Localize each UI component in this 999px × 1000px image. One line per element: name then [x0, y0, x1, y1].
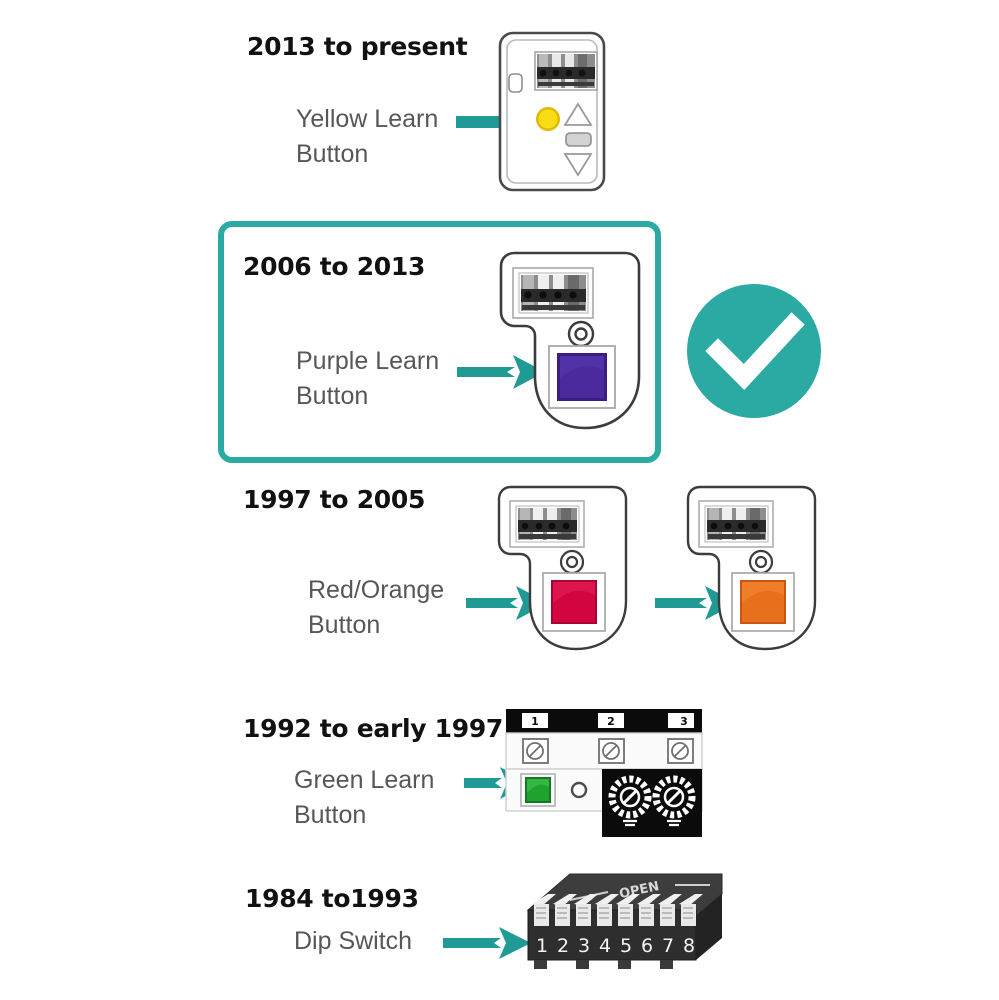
section-heading-2013: 2013 to present: [247, 32, 467, 61]
dip-number-7: 7: [662, 935, 674, 957]
section-heading-1997: 1997 to 2005: [243, 485, 425, 514]
section-heading-2006: 2006 to 2013: [243, 252, 425, 281]
dip-number-1: 1: [536, 935, 548, 957]
section-label-1984-line1: Dip Switch: [294, 925, 412, 958]
diagram-canvas: 2013 to present Yellow Learn Button: [0, 0, 999, 1000]
section-label-1997-line2: Button: [308, 609, 380, 642]
terminal-block: [535, 52, 597, 90]
dip-number-4: 4: [599, 935, 611, 957]
dip-number-6: 6: [641, 935, 653, 957]
terminal-panel-device: 1 2 3: [506, 709, 702, 837]
terminal-block: [699, 501, 773, 547]
dip-switch-device: OPEN: [510, 864, 730, 982]
opener-housing-purple: [483, 248, 651, 446]
terminal-block: [513, 268, 593, 318]
wall-console-device: [497, 30, 607, 193]
section-heading-1984: 1984 to1993: [245, 884, 419, 913]
dial-panel: [602, 769, 702, 837]
section-label-1992-line1: Green Learn: [294, 764, 434, 797]
terminal-number-3: 3: [680, 715, 688, 728]
terminal-number-2: 2: [607, 715, 615, 728]
terminal-block: [510, 501, 584, 547]
section-label-2006-line1: Purple Learn: [296, 345, 439, 378]
dip-number-5: 5: [620, 935, 632, 957]
section-label-2006-line2: Button: [296, 380, 368, 413]
section-heading-1992: 1992 to early 1997: [243, 714, 503, 743]
section-label-1997-line1: Red/Orange: [308, 574, 444, 607]
dip-number-8: 8: [683, 935, 695, 957]
section-label-2013-line1: Yellow Learn: [296, 103, 438, 136]
section-label-1992-line2: Button: [294, 799, 366, 832]
dip-number-2: 2: [557, 935, 569, 957]
section-label-2013-line2: Button: [296, 138, 368, 171]
terminal-number-1: 1: [531, 715, 539, 728]
light-button-icon: [566, 133, 591, 146]
indicator-hole: [572, 783, 586, 797]
dip-number-3: 3: [578, 935, 590, 957]
opener-housing-orange: [672, 483, 832, 663]
opener-housing-red: [483, 483, 643, 663]
recommended-check-icon: [684, 281, 824, 421]
